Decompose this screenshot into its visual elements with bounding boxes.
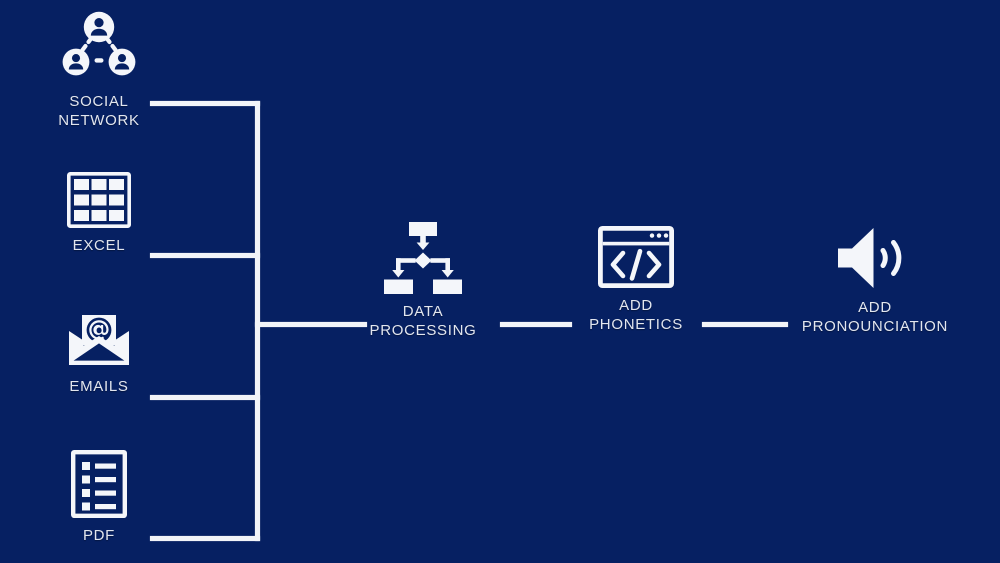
node-label: EMAILS <box>69 378 128 397</box>
node-social-network[interactable]: SOCIAL NETWORK <box>28 8 170 130</box>
node-label: ADD PRONOUNCIATION <box>802 299 948 336</box>
open-envelope-at-icon <box>64 307 134 369</box>
node-add-phonetics[interactable]: ADD PHONETICS <box>562 226 710 334</box>
node-emails[interactable]: EMAILS <box>28 307 170 397</box>
spreadsheet-grid-icon <box>67 172 131 228</box>
code-window-icon <box>598 226 674 288</box>
speaker-volume-icon <box>835 226 915 290</box>
diagram-canvas: SOCIAL NETWORK EXCEL <box>0 0 1000 563</box>
node-label: ADD PHONETICS <box>589 297 683 334</box>
node-pdf[interactable]: PDF <box>28 450 170 546</box>
social-network-icon <box>61 8 137 84</box>
node-label: SOCIAL NETWORK <box>58 93 140 130</box>
node-excel[interactable]: EXCEL <box>28 172 170 256</box>
document-list-icon <box>71 450 127 518</box>
connector-vertical-bus <box>255 101 260 541</box>
node-add-pronounciation[interactable]: ADD PRONOUNCIATION <box>776 226 974 336</box>
node-label: DATA PROCESSING <box>369 303 476 340</box>
node-label: PDF <box>83 527 115 546</box>
flowchart-icon <box>382 222 464 294</box>
node-label: EXCEL <box>73 237 126 256</box>
node-data-processing[interactable]: DATA PROCESSING <box>338 222 508 340</box>
